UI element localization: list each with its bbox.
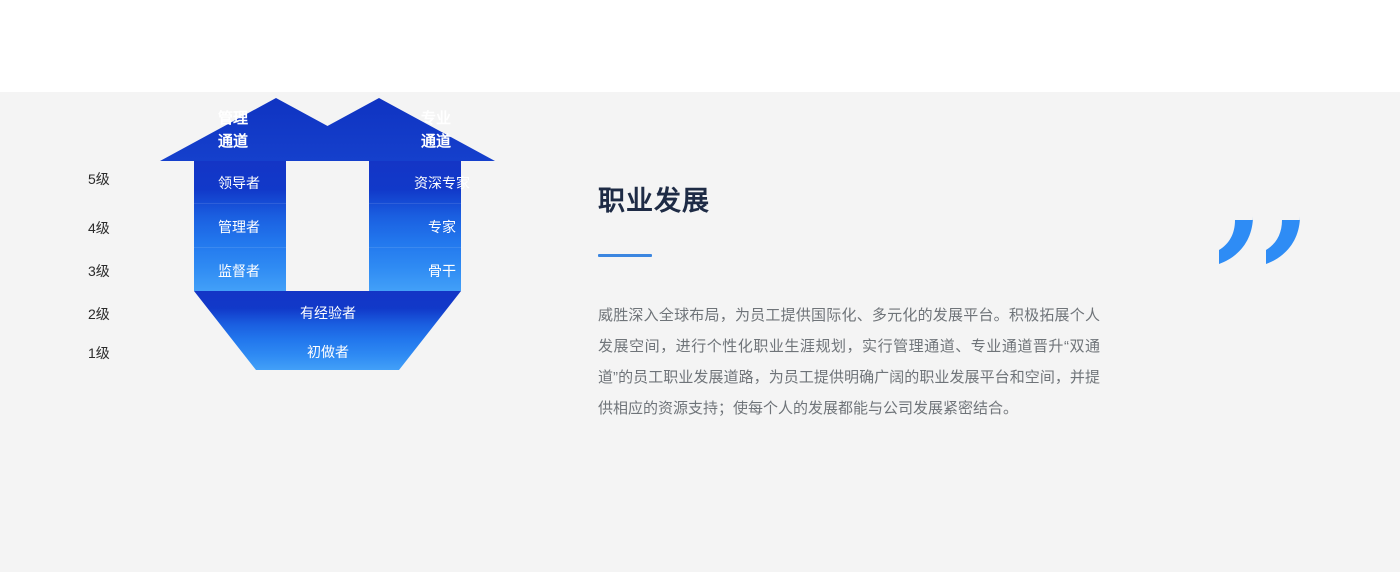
professional-rung-3: 骨干 — [428, 263, 456, 279]
closing-quote-icon — [1219, 186, 1303, 264]
page-root: 5级 4级 3级 2级 1级 — [0, 0, 1400, 572]
shared-base-level-2: 有经验者 — [300, 305, 356, 321]
level-label-column: 5级 4级 3级 2级 1级 — [88, 98, 128, 388]
level-label-3: 3级 — [88, 264, 128, 278]
management-rung-3: 监督者 — [218, 263, 260, 279]
career-path-diagram: 5级 4级 3级 2级 1级 — [88, 98, 508, 388]
level-label-5: 5级 — [88, 172, 128, 186]
shaft-gap — [286, 161, 369, 291]
top-white-band — [0, 0, 1400, 92]
page-title: 职业发展 — [598, 185, 1103, 217]
level-label-1: 1级 — [88, 346, 128, 360]
professional-rung-5: 资深专家 — [414, 175, 470, 191]
management-rung-4: 管理者 — [218, 219, 260, 235]
professional-head-line2: 通道 — [421, 132, 451, 150]
body-paragraph: 威胜深入全球布局，为员工提供国际化、多元化的发展平台。积极拓展个人发展空间，进行… — [598, 300, 1100, 424]
management-head-line2: 通道 — [218, 132, 248, 150]
level-label-4: 4级 — [88, 221, 128, 235]
management-rung-5: 领导者 — [218, 175, 260, 191]
dual-channel-arrows-graphic: 管理 通道 专业 通道 领导者 管理者 监督者 资深专家 专家 骨干 有经验者 … — [124, 98, 514, 388]
management-head-line1: 管理 — [218, 109, 248, 127]
shared-base-level-1: 初做者 — [307, 344, 349, 360]
professional-head-line1: 专业 — [421, 109, 451, 127]
career-development-copy: 职业发展 威胜深入全球布局，为员工提供国际化、多元化的发展平台。积极拓展个人发展… — [598, 185, 1103, 424]
title-accent-rule — [598, 254, 652, 257]
level-label-2: 2级 — [88, 307, 128, 321]
professional-rung-4: 专家 — [428, 219, 456, 235]
